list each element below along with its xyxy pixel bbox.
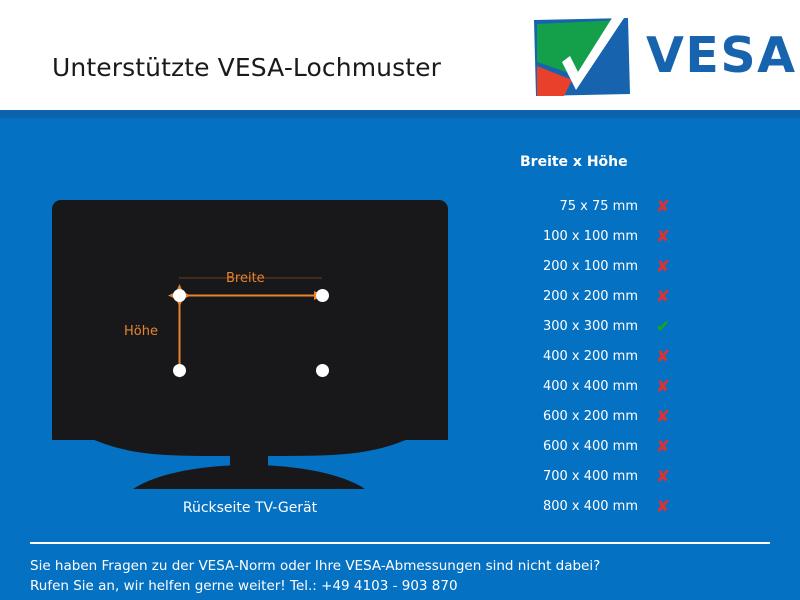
mounting-hole-top-right [316, 289, 329, 302]
mounting-hole-top-left [173, 289, 186, 302]
pattern-row: 700 x 400 mm✘ [500, 462, 700, 492]
footer-contact-text: Sie haben Fragen zu der VESA-Norm oder I… [30, 556, 780, 596]
pattern-size-label: 200 x 200 mm [543, 282, 638, 312]
mounting-hole-bottom-left [173, 364, 186, 377]
pattern-row: 400 x 400 mm✘ [500, 372, 700, 402]
pattern-size-label: 75 x 75 mm [559, 192, 638, 222]
vesa-checkmark-logo-icon [534, 18, 630, 96]
pattern-size-label: 800 x 400 mm [543, 492, 638, 522]
header-bar: Unterstützte VESA-Lochmuster VESA [0, 0, 800, 110]
pattern-size-label: 200 x 100 mm [543, 252, 638, 282]
tv-back-illustration: Breite Höhe [52, 200, 448, 495]
measurement-guides [52, 200, 448, 495]
pattern-size-label: 600 x 400 mm [543, 432, 638, 462]
vesa-logo: VESA [534, 18, 786, 96]
measure-width-label: Breite [226, 271, 265, 286]
mounting-hole-bottom-right [316, 364, 329, 377]
measure-height-label: Höhe [124, 324, 158, 339]
unsupported-cross-icon: ✘ [654, 342, 672, 372]
unsupported-cross-icon: ✘ [654, 492, 672, 522]
pattern-row: 600 x 400 mm✘ [500, 432, 700, 462]
vesa-pattern-table: Breite x Höhe 75 x 75 mm✘100 x 100 mm✘20… [500, 154, 700, 522]
pattern-row: 200 x 200 mm✘ [500, 282, 700, 312]
pattern-row: 800 x 400 mm✘ [500, 492, 700, 522]
footer-divider [30, 542, 770, 544]
content-panel: Breite Höhe Rückseite TV-Gerät Breite x … [0, 110, 800, 600]
pattern-size-label: 300 x 300 mm [543, 312, 638, 342]
pattern-row: 300 x 300 mm✔ [500, 312, 700, 342]
pattern-size-label: 600 x 200 mm [543, 402, 638, 432]
footer-line-question: Sie haben Fragen zu der VESA-Norm oder I… [30, 556, 780, 576]
unsupported-cross-icon: ✘ [654, 252, 672, 282]
unsupported-cross-icon: ✘ [654, 192, 672, 222]
unsupported-cross-icon: ✘ [654, 462, 672, 492]
unsupported-cross-icon: ✘ [654, 402, 672, 432]
unsupported-cross-icon: ✘ [654, 222, 672, 252]
unsupported-cross-icon: ✘ [654, 282, 672, 312]
unsupported-cross-icon: ✘ [654, 372, 672, 402]
vesa-pattern-infographic: Unterstützte VESA-Lochmuster VESA [0, 0, 800, 600]
supported-check-icon: ✔ [654, 312, 672, 342]
table-column-header: Breite x Höhe [520, 154, 700, 170]
pattern-size-label: 100 x 100 mm [543, 222, 638, 252]
vesa-wordmark: VESA [646, 26, 797, 86]
pattern-row: 75 x 75 mm✘ [500, 192, 700, 222]
pattern-row-list: 75 x 75 mm✘100 x 100 mm✘200 x 100 mm✘200… [500, 192, 700, 522]
pattern-size-label: 400 x 200 mm [543, 342, 638, 372]
pattern-row: 100 x 100 mm✘ [500, 222, 700, 252]
pattern-row: 400 x 200 mm✘ [500, 342, 700, 372]
illustration-caption: Rückseite TV-Gerät [52, 500, 448, 516]
pattern-size-label: 400 x 400 mm [543, 372, 638, 402]
pattern-row: 200 x 100 mm✘ [500, 252, 700, 282]
pattern-size-label: 700 x 400 mm [543, 462, 638, 492]
pattern-row: 600 x 200 mm✘ [500, 402, 700, 432]
panel-top-strip [0, 110, 800, 118]
page-title: Unterstützte VESA-Lochmuster [52, 53, 441, 82]
footer-line-phone: Rufen Sie an, wir helfen gerne weiter! T… [30, 576, 780, 596]
unsupported-cross-icon: ✘ [654, 432, 672, 462]
